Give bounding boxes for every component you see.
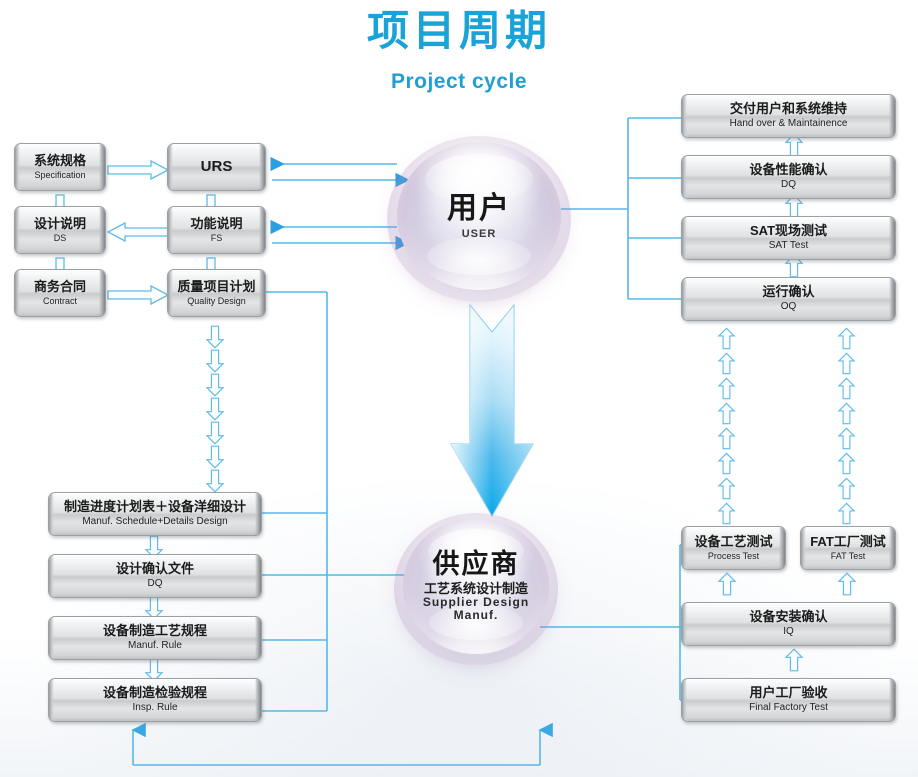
sphere-user-title-en: USER: [447, 228, 511, 240]
node-handover-cn: 交付用户和系统维持: [730, 102, 847, 117]
node-quality-design-cn: 质量项目计划: [177, 280, 255, 295]
node-ds-en: DS: [54, 233, 67, 244]
node-handover-en: Hand over & Maintainence: [730, 118, 848, 130]
hollow-arrow-right-contract-qd: [107, 285, 169, 305]
node-design-confirm-en: DQ: [148, 578, 163, 590]
sphere-supplier-subtitle-cn: 工艺系统设计制造: [403, 582, 549, 596]
node-fs-en: FS: [211, 233, 223, 244]
page-title-cn: 项目周期: [0, 8, 918, 54]
node-design-confirm-cn: 设计确认文件: [116, 562, 194, 577]
node-ds[interactable]: 设计说明 DS: [14, 206, 106, 254]
node-iq[interactable]: 设备安装确认 IQ: [681, 602, 896, 646]
node-specification-cn: 系统规格: [34, 154, 86, 169]
hollow-arrow-up-iq-process: [718, 572, 736, 596]
sphere-supplier-title-cn: 供应商: [403, 550, 549, 580]
node-process-test-cn: 设备工艺测试: [694, 535, 772, 550]
node-handover[interactable]: 交付用户和系统维持 Hand over & Maintainence: [681, 94, 896, 138]
node-insp-rule[interactable]: 设备制造检验规程 Insp. Rule: [48, 678, 262, 722]
hollow-arrow-right-spec-urs: [107, 160, 169, 180]
node-sat[interactable]: SAT现场测试 SAT Test: [681, 216, 896, 260]
sphere-supplier[interactable]: 供应商 工艺系统设计制造 Supplier Design Manuf.: [403, 518, 549, 654]
node-manuf-schedule-cn: 制造进度计划表＋设备洋细设计: [64, 500, 246, 515]
node-pq-cn: 设备性能确认: [749, 163, 827, 178]
node-process-test-en: Process Test: [708, 551, 759, 562]
node-contract-en: Contract: [43, 296, 77, 307]
node-final-factory[interactable]: 用户工厂验收 Final Factory Test: [681, 678, 896, 722]
node-urs[interactable]: URS: [167, 143, 266, 191]
node-fs[interactable]: 功能说明 FS: [167, 206, 266, 254]
big-flow-arrow: [451, 305, 533, 516]
node-iq-cn: 设备安装确认: [749, 610, 827, 625]
sphere-user-base-gloss: [427, 237, 532, 275]
node-insp-rule-en: Insp. Rule: [132, 702, 177, 714]
node-contract[interactable]: 商务合同 Contract: [14, 269, 106, 317]
node-process-test[interactable]: 设备工艺测试 Process Test: [681, 526, 786, 570]
node-urs-cn: URS: [201, 158, 233, 175]
page-title-en: Project cycle: [0, 70, 918, 94]
node-specification-en: Specification: [34, 170, 85, 181]
node-pq-en: DQ: [781, 179, 796, 191]
hollow-arrow-up-final-iq: [785, 648, 803, 672]
node-ds-cn: 设计说明: [34, 217, 86, 232]
node-sat-cn: SAT现场测试: [750, 224, 827, 239]
node-final-factory-cn: 用户工厂验收: [749, 686, 827, 701]
node-manuf-rule-cn: 设备制造工艺规程: [103, 624, 207, 639]
node-oq[interactable]: 运行确认 OQ: [681, 277, 896, 321]
node-quality-design-en: Quality Design: [187, 296, 246, 307]
node-manuf-schedule[interactable]: 制造进度计划表＋设备洋细设计 Manuf. Schedule+Details D…: [48, 492, 262, 536]
node-specification[interactable]: 系统规格 Specification: [14, 143, 106, 191]
diagram-canvas: 项目周期 Project cycle: [0, 0, 918, 777]
node-oq-cn: 运行确认: [762, 285, 814, 300]
node-quality-design[interactable]: 质量项目计划 Quality Design: [167, 269, 266, 317]
node-fat-test[interactable]: FAT工厂测试 FAT Test: [800, 526, 896, 570]
node-iq-en: IQ: [783, 626, 794, 638]
node-final-factory-en: Final Factory Test: [749, 702, 828, 714]
sphere-user[interactable]: 用户 USER: [397, 142, 561, 290]
hollow-arrow-left-fs-ds: [107, 222, 169, 242]
node-fat-test-en: FAT Test: [831, 551, 866, 562]
node-contract-cn: 商务合同: [34, 280, 86, 295]
sphere-supplier-title-en: Supplier Design Manuf.: [403, 596, 549, 622]
sphere-user-title-cn: 用户: [447, 192, 511, 225]
node-pq[interactable]: 设备性能确认 DQ: [681, 155, 896, 199]
node-manuf-schedule-en: Manuf. Schedule+Details Design: [82, 516, 227, 528]
hollow-arrow-up-iq-fat: [838, 572, 856, 596]
node-insp-rule-cn: 设备制造检验规程: [103, 686, 207, 701]
node-sat-en: SAT Test: [769, 240, 808, 252]
node-design-confirm[interactable]: 设计确认文件 DQ: [48, 554, 262, 598]
node-fs-cn: 功能说明: [190, 217, 242, 232]
node-manuf-rule-en: Manuf. Rule: [128, 640, 182, 652]
node-manuf-rule[interactable]: 设备制造工艺规程 Manuf. Rule: [48, 616, 262, 660]
node-fat-test-cn: FAT工厂测试: [810, 535, 886, 550]
node-oq-en: OQ: [781, 301, 797, 313]
